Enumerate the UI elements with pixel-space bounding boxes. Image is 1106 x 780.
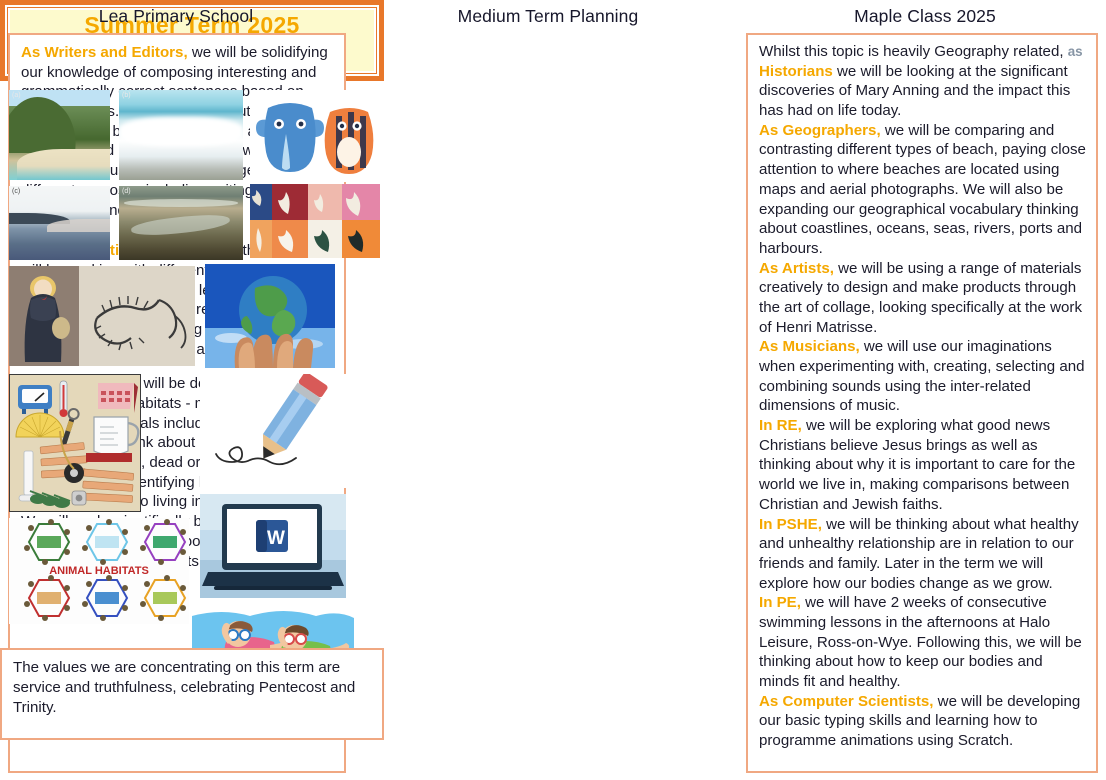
animal-habitats-poster-icon: ANIMAL HABITATS bbox=[9, 518, 189, 624]
center-panel: Summer Term 2025 On the Beach! (a) (b) bbox=[0, 0, 384, 740]
animal-hand-puppets-icon bbox=[250, 90, 380, 182]
paragraph-geographers: As Geographers, we will be comparing and… bbox=[759, 121, 1087, 259]
laptop-word-photo: W bbox=[200, 494, 346, 598]
intro-prefix: Whilst this topic is heavily Geography r… bbox=[759, 43, 1068, 60]
measuring-equipment-icon bbox=[10, 375, 141, 512]
hands-holding-globe-icon bbox=[205, 264, 335, 368]
heading-as-musicians: As Musicians bbox=[759, 338, 855, 355]
image-collage: (a) (b) bbox=[0, 86, 384, 648]
heading-as-writers-and-editors: As Writers and Editors bbox=[21, 44, 183, 61]
breaking-waves-photo: (b) bbox=[119, 90, 243, 180]
header-document-type: Medium Term Planning bbox=[352, 6, 744, 27]
laptop-word-icon: W bbox=[200, 494, 346, 598]
heading-as-computer-scientists: As Computer Scientists bbox=[759, 693, 929, 710]
breaking-waves-photo-label: (b) bbox=[122, 92, 131, 99]
heading-as-geographers: As Geographers bbox=[759, 122, 876, 139]
heading-as-artists: As Artists bbox=[759, 260, 830, 277]
animal-hand-puppets-photo bbox=[250, 90, 380, 182]
paragraph-artists: As Artists, we will be using a range of … bbox=[759, 259, 1087, 338]
mary-anning-fossil-photo bbox=[9, 266, 195, 366]
shingle-beach-photo-label: (c) bbox=[12, 188, 20, 195]
rock-pools-photo-label: (d) bbox=[122, 188, 131, 195]
school-values-box: The values we are concentrating on this … bbox=[0, 648, 384, 740]
heading-in-re: In RE bbox=[759, 417, 798, 434]
animal-habitats-poster: ANIMAL HABITATS bbox=[9, 518, 189, 624]
heading-in-pe: In PE bbox=[759, 594, 797, 611]
body-geographers: we will be comparing and contrasting dif… bbox=[759, 122, 1086, 257]
animal-habitats-poster-label: ANIMAL HABITATS bbox=[49, 565, 149, 577]
rock-pools-photo: (d) bbox=[119, 186, 243, 260]
paragraph-pshe: In PSHE, we will be thinking about what … bbox=[759, 515, 1087, 594]
matisse-collage-photo bbox=[250, 184, 380, 258]
beach-headland-photo-label: (a) bbox=[12, 92, 21, 99]
medium-term-planning-page: Lea Primary School Medium Term Planning … bbox=[0, 0, 1106, 780]
right-column-text: Whilst this topic is heavily Geography r… bbox=[759, 42, 1087, 751]
heading-as-grey: as bbox=[1068, 44, 1083, 59]
body-re: we will be exploring what good news Chri… bbox=[759, 417, 1075, 513]
paragraph-re: In RE, we will be exploring what good ne… bbox=[759, 416, 1087, 514]
paragraph-computer-scientists: As Computer Scientists, we will be devel… bbox=[759, 692, 1087, 751]
mary-anning-fossil-icon bbox=[9, 266, 195, 366]
paragraph-pe: In PE, we will have 2 weeks of consecuti… bbox=[759, 593, 1087, 691]
measuring-equipment-photo bbox=[9, 374, 141, 512]
shingle-beach-photo: (c) bbox=[9, 186, 110, 260]
pencil-icon bbox=[200, 374, 346, 488]
header-school-name: Lea Primary School bbox=[0, 6, 352, 27]
right-subjects-panel: Whilst this topic is heavily Geography r… bbox=[746, 33, 1098, 773]
school-values-text: The values we are concentrating on this … bbox=[13, 658, 371, 718]
hands-holding-globe-photo bbox=[205, 264, 335, 368]
word-logo-letter: W bbox=[267, 528, 285, 549]
paragraph-musicians: As Musicians, we will use our imaginatio… bbox=[759, 337, 1087, 416]
pencil-writing-photo bbox=[200, 374, 346, 488]
body-pe: we will have 2 weeks of consecutive swim… bbox=[759, 594, 1082, 690]
heading-in-pshe: In PSHE bbox=[759, 516, 818, 533]
matisse-collage-icon bbox=[250, 184, 380, 258]
header-class-name: Maple Class 2025 bbox=[744, 6, 1106, 27]
heading-historians: Historians bbox=[759, 63, 833, 80]
beach-headland-photo: (a) bbox=[9, 90, 110, 180]
paragraph-historians: Whilst this topic is heavily Geography r… bbox=[759, 42, 1087, 121]
